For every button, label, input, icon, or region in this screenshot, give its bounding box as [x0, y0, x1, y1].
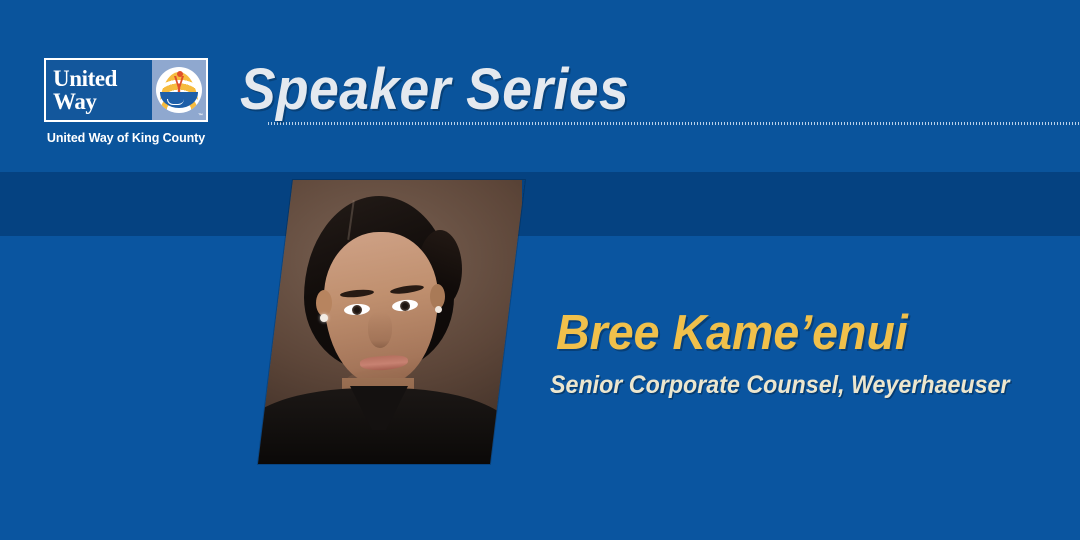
photo-earring-left — [320, 314, 328, 322]
photo-iris-left — [352, 305, 363, 316]
logo-mark-panel: ™ — [152, 60, 206, 120]
speaker-name: Bree Kame’enui — [556, 306, 908, 360]
speaker-title: Senior Corporate Counsel, Weyerhaeuser — [550, 370, 1010, 400]
person-head-icon — [177, 71, 183, 77]
speaker-photo — [258, 180, 525, 464]
speaker-photo-image — [258, 180, 522, 464]
photo-nose — [368, 312, 392, 348]
united-way-mark-icon — [156, 67, 202, 113]
logo-wordmark: United Way — [46, 60, 152, 120]
logo-tagline: United Way of King County — [44, 131, 208, 145]
united-way-logo: United Way ™ United Way of King County — [44, 58, 210, 152]
speaker-series-banner: United Way ™ United Way of King County S… — [0, 0, 1080, 540]
logo-wordmark-line2: Way — [53, 90, 152, 113]
dotted-divider-rule — [268, 122, 1080, 125]
photo-earring-right — [435, 306, 442, 313]
logo-box: United Way ™ — [44, 58, 208, 122]
page-title: Speaker Series — [240, 58, 629, 122]
photo-ear-left — [316, 290, 332, 316]
logo-wordmark-line1: United — [53, 67, 152, 90]
trademark-symbol: ™ — [198, 113, 203, 119]
photo-iris-right — [400, 301, 411, 312]
